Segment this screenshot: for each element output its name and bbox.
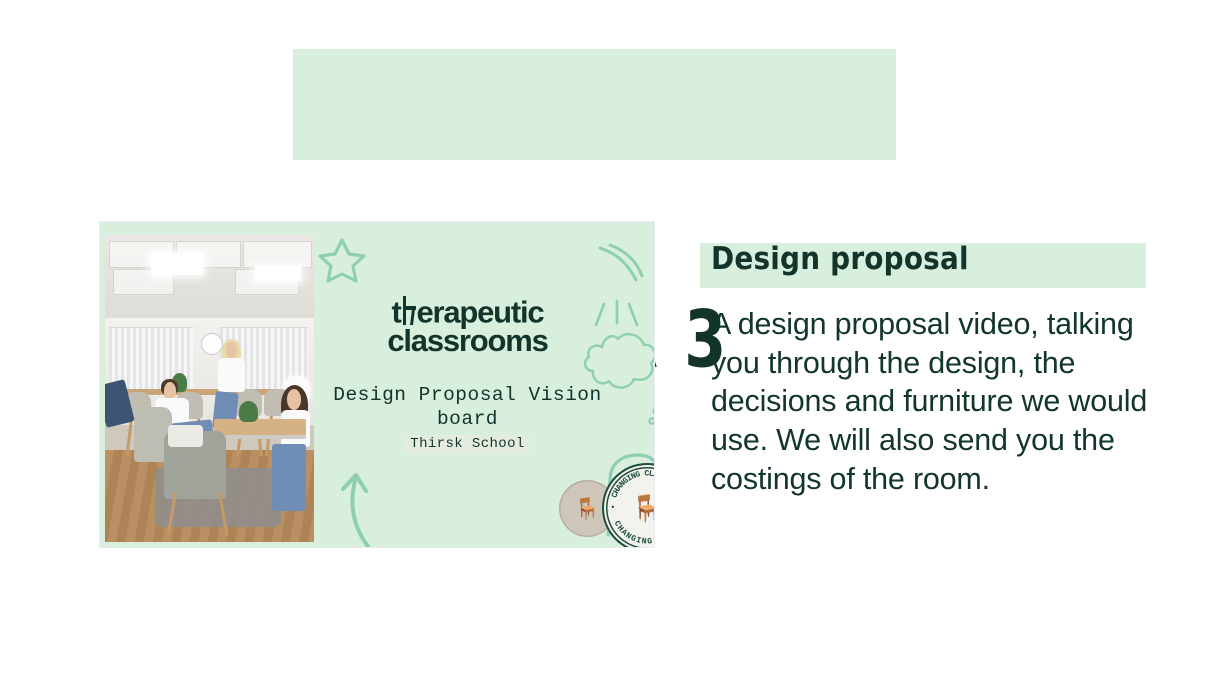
board-subtitle: Design Proposal Vision board xyxy=(314,383,621,432)
section-heading: Design proposal xyxy=(711,236,969,275)
coffee-table xyxy=(214,419,306,434)
logo-line2: classrooms xyxy=(314,327,621,356)
title-highlight-band xyxy=(293,49,896,160)
therapeutic-classrooms-logo: terapeutic classrooms xyxy=(314,295,621,356)
board-school-text: Thirsk School xyxy=(405,435,529,453)
person-torso xyxy=(218,358,245,392)
photo-scene xyxy=(105,235,314,542)
slide-root: +TIER 3 xyxy=(0,0,1214,683)
ceiling-light xyxy=(255,266,301,281)
arcs-doodle xyxy=(596,243,644,285)
person-head xyxy=(226,342,236,357)
chair-icon: 🪑 xyxy=(631,495,654,521)
person-legs xyxy=(272,444,305,512)
curved-arrow-doodle xyxy=(336,467,394,547)
chair-icon: 🪑 xyxy=(574,498,600,519)
stamp-ring-char: G xyxy=(634,470,641,480)
board-subtitle-line2: board xyxy=(314,407,621,431)
classroom-photo xyxy=(105,235,314,542)
small-circles-doodle xyxy=(648,387,654,427)
vision-board-card[interactable]: terapeutic classrooms Design Proposal Vi… xyxy=(100,222,654,547)
ceiling-light xyxy=(151,253,203,274)
board-school-label: Thirsk School xyxy=(314,434,621,452)
stamp-ring-dot: • xyxy=(610,504,615,513)
cushion xyxy=(168,425,204,446)
stamp-ring-char: G xyxy=(647,537,653,546)
board-subtitle-line1: Design Proposal Vision xyxy=(314,383,621,407)
star-doodle xyxy=(318,235,366,285)
section-body-text: A design proposal video, talking you thr… xyxy=(711,305,1149,499)
vision-board-panel: terapeutic classrooms Design Proposal Vi… xyxy=(314,235,649,542)
table-plant xyxy=(239,401,258,422)
ceiling-tile xyxy=(243,241,312,268)
chair-letter-h-icon xyxy=(401,295,417,325)
changing-classrooms-stamp: CHANGING CLASSROOMSCHANGING LIVES•• 🪑 xyxy=(602,463,654,547)
